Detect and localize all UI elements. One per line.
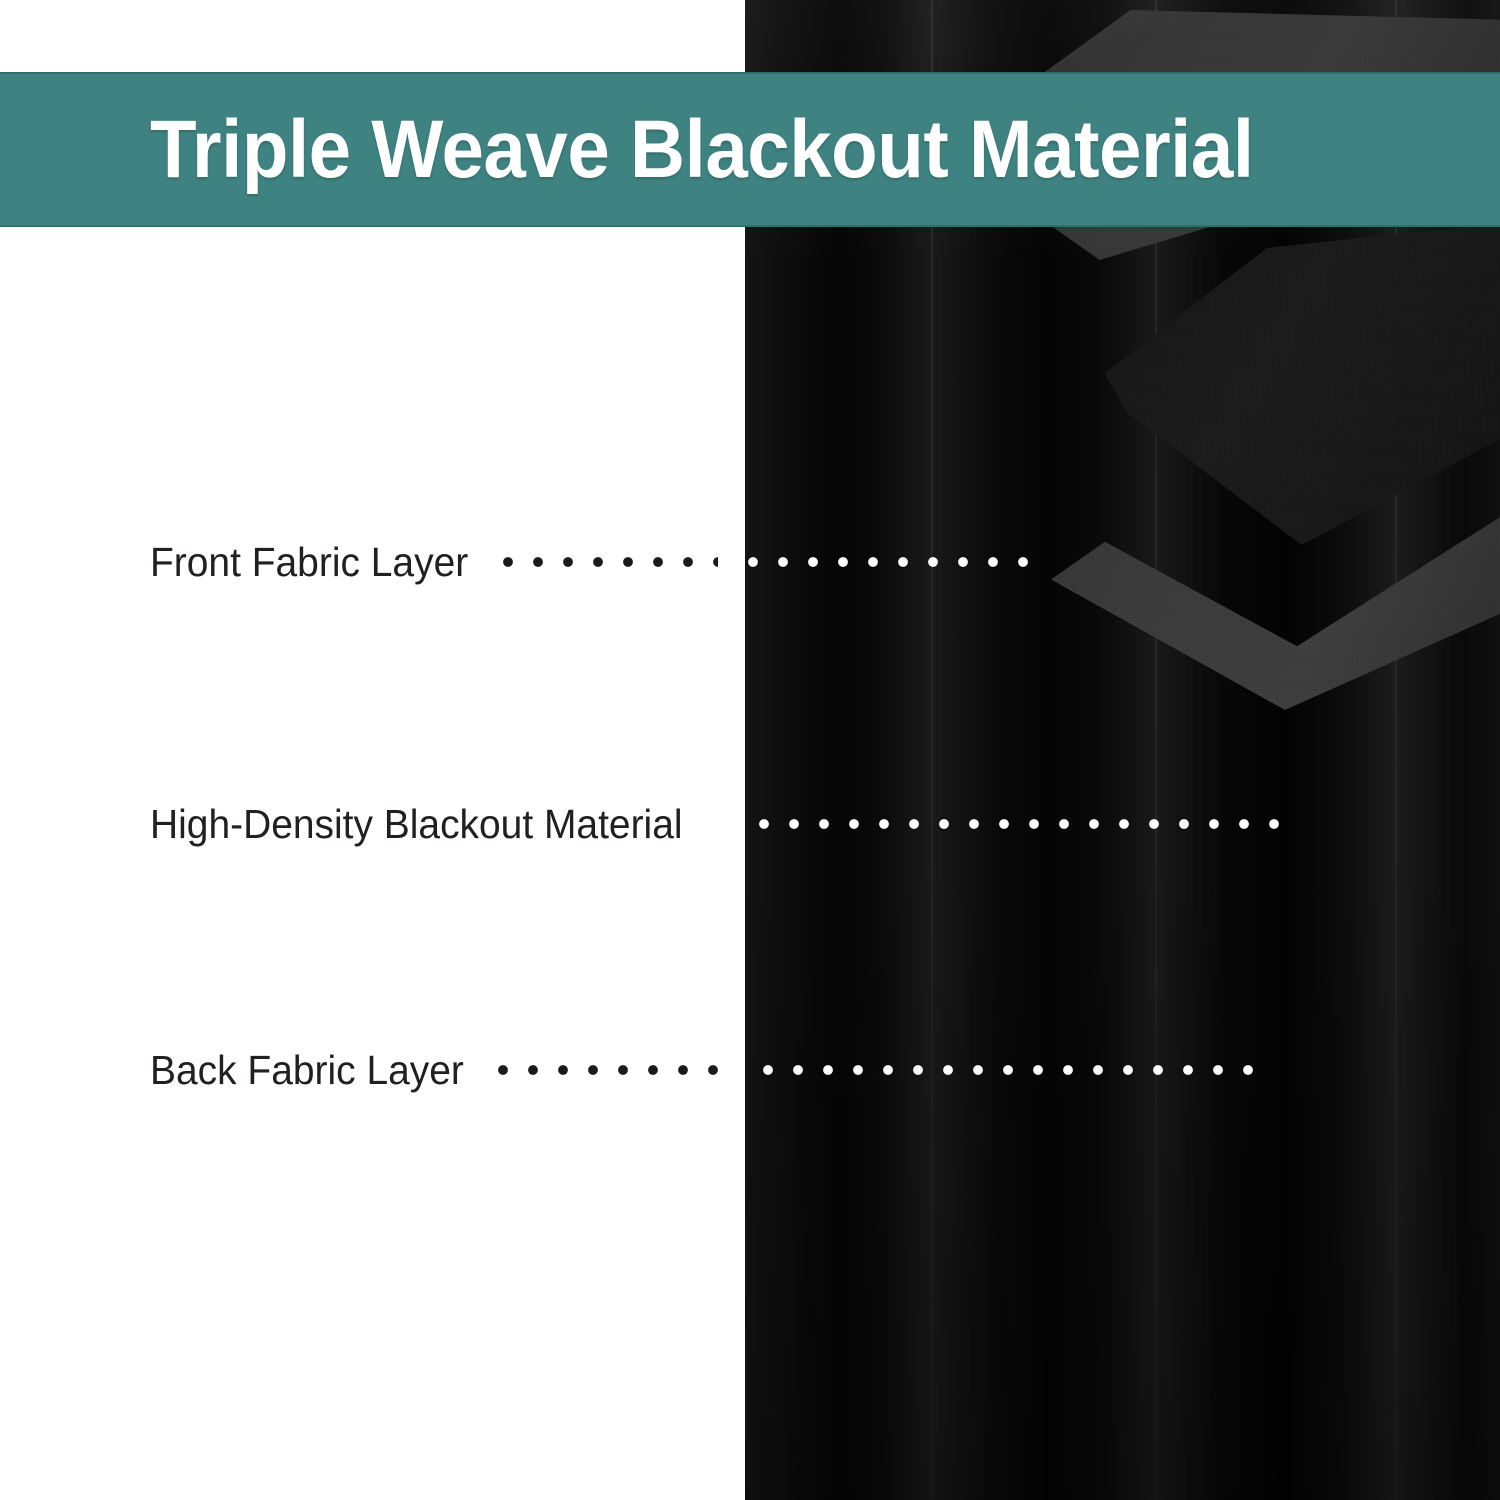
headline-banner: Triple Weave Blackout Material [0,72,1500,227]
callout-front-fabric-layer: Front Fabric Layer [150,538,1048,586]
callout-label: High-Density Blackout Material [150,801,683,848]
callout-back-fabric-layer: Back Fabric Layer [150,1046,1268,1094]
page-title: Triple Weave Blackout Material [150,103,1254,197]
product-feature-graphic: Triple Weave Blackout Material Front Fab… [0,0,1500,1500]
leader-dots-light [729,818,1284,830]
leader-line [729,818,1284,830]
callout-label: Back Fabric Layer [150,1047,464,1094]
leader-line [503,556,1048,568]
callout-high-density-blackout-material: High-Density Blackout Material [150,800,1284,848]
leader-line [498,1064,1268,1076]
leader-dots-light [733,1064,1268,1076]
callout-label: Front Fabric Layer [150,539,468,586]
leader-dots-light [718,556,1048,568]
leader-dots-dark [498,1064,733,1076]
leader-dots-dark [503,556,718,568]
